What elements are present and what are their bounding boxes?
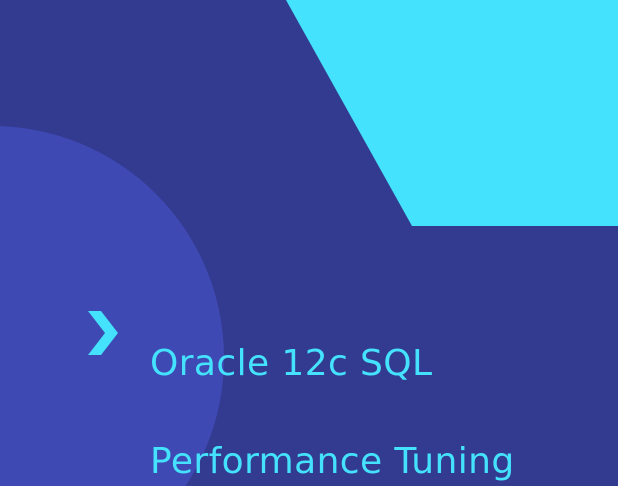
chevron-right-icon [88, 290, 122, 386]
title-block: Oracle 12c SQL Performance Tuning [88, 290, 598, 486]
title-slide: Oracle 12c SQL Performance Tuning [0, 0, 618, 486]
page-title: Oracle 12c SQL Performance Tuning [150, 290, 515, 486]
page-title-line-1: Oracle 12c SQL [150, 339, 515, 388]
page-title-line-2: Performance Tuning [150, 437, 515, 486]
chevron-right-icon-shape [88, 311, 118, 355]
